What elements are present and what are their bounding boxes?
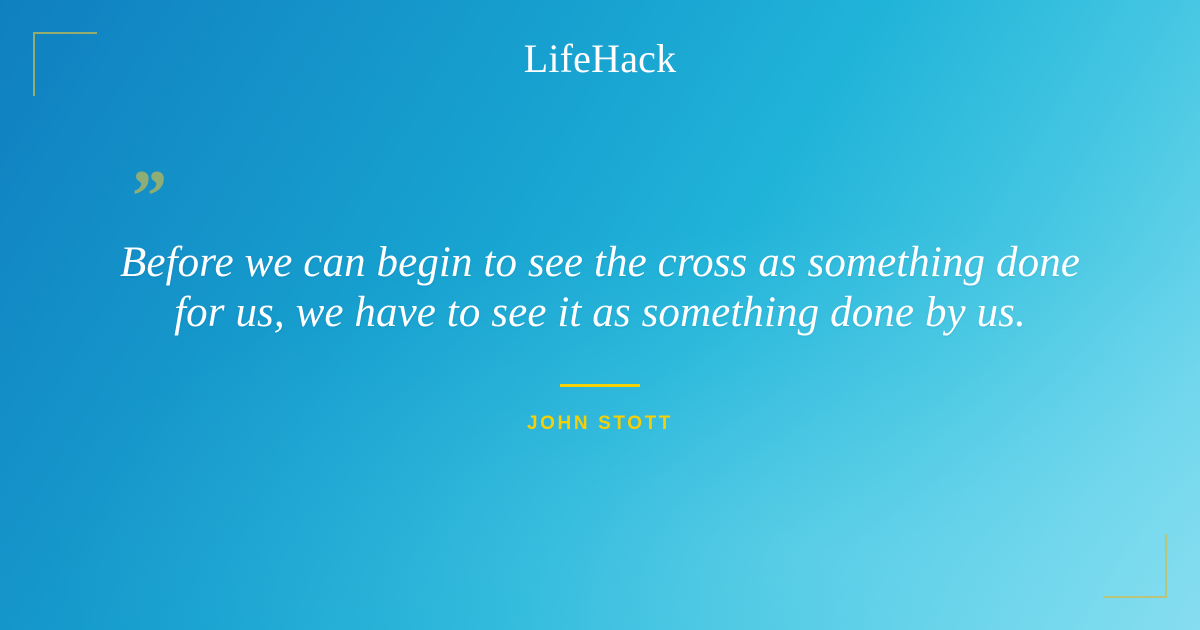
quote-card: LifeHack ” Before we can begin to see th…	[0, 0, 1200, 630]
corner-bracket-bottom-right-icon	[1103, 534, 1167, 598]
brand-logo: LifeHack	[0, 38, 1200, 80]
corner-bracket-top-left-icon	[33, 32, 97, 96]
quote-author: JOHN STOTT	[0, 413, 1200, 435]
quote-block: ” Before we can begin to see the cross a…	[0, 160, 1200, 339]
divider	[560, 384, 640, 387]
quote-text: Before we can begin to see the cross as …	[0, 160, 1200, 339]
quote-mark-icon: ”	[128, 160, 165, 234]
